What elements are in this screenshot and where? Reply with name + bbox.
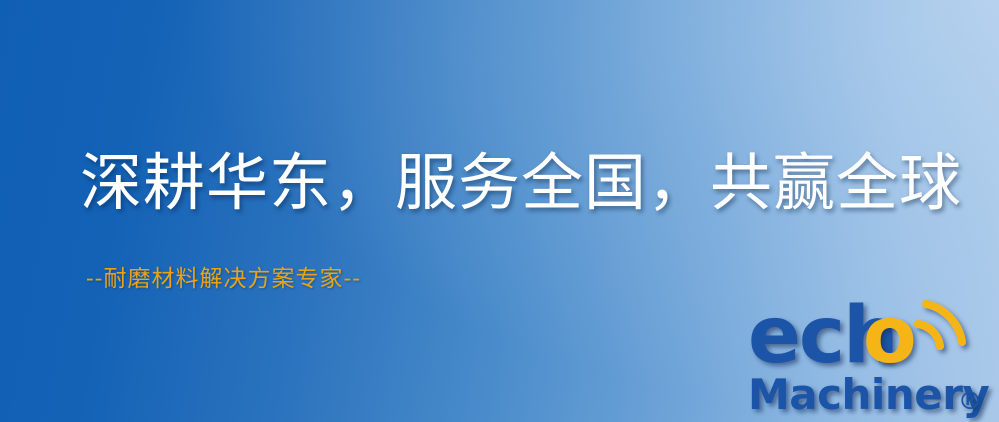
logo-text-machinery: Machinery bbox=[748, 370, 989, 419]
banner-subtitle: --耐磨材料解决方案专家-- bbox=[86, 268, 361, 291]
logo-text-o: o bbox=[863, 291, 917, 381]
wifi-arc-icon bbox=[918, 304, 962, 346]
banner-headline: 深耕华东，服务全国，共赢全球 bbox=[80, 152, 962, 214]
promo-banner: 深耕华东，服务全国，共赢全球 --耐磨材料解决方案专家-- ech o Mach… bbox=[0, 0, 999, 422]
echo-machinery-logo: ech o Machinery ® bbox=[748, 296, 996, 420]
logo-registered-mark: ® bbox=[958, 387, 982, 415]
